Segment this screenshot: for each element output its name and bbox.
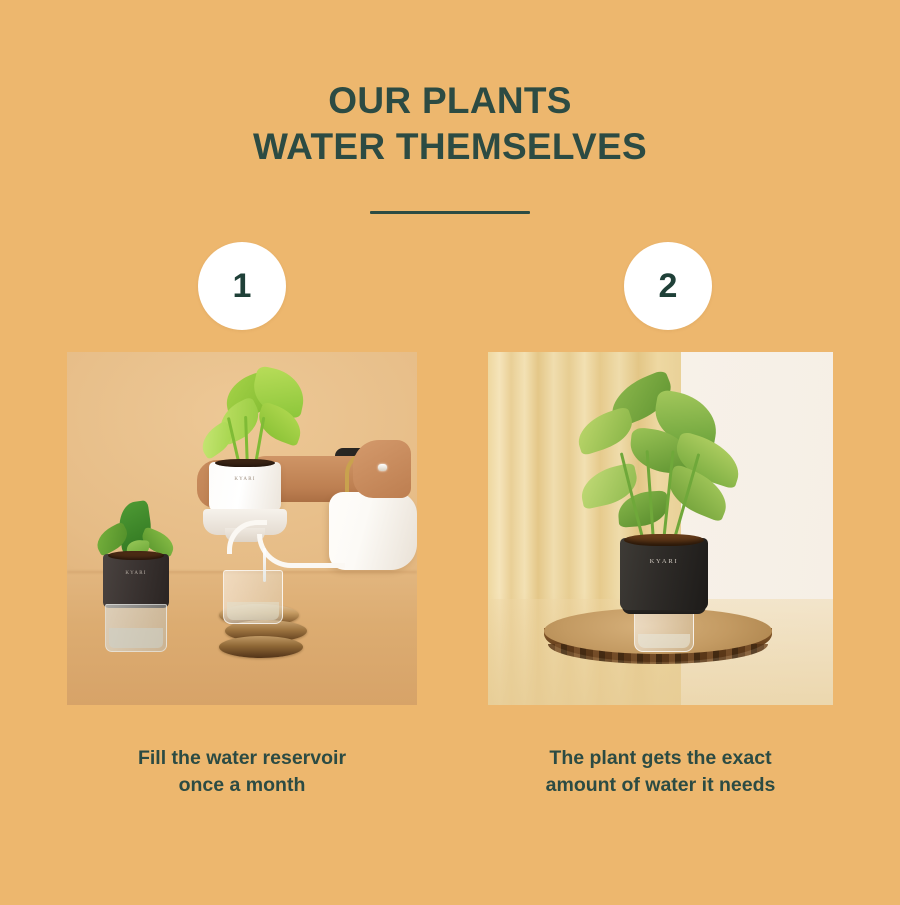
water-glass (223, 570, 283, 624)
pot-brand-label: KYARI (620, 558, 708, 565)
step-photo-1: KYARI KYARI (67, 352, 417, 705)
step-caption-2-line-1: The plant gets the exact (488, 745, 833, 772)
step-caption-2: The plant gets the exact amount of water… (488, 745, 833, 798)
step-caption-1-line-2: once a month (67, 772, 417, 799)
page-title: OUR PLANTS WATER THEMSELVES (0, 78, 900, 171)
water-reservoir (634, 610, 694, 652)
white-self-watering-pot: KYARI (209, 462, 281, 512)
water-reservoir (105, 604, 167, 652)
plant-stems (638, 448, 682, 542)
page-title-line-2: WATER THEMSELVES (0, 124, 900, 170)
wood-coaster (219, 636, 303, 658)
pot-brand-label: KYARI (209, 477, 281, 482)
step-photo-2: KYARI (488, 352, 833, 705)
step-number-badge-2: 2 (624, 242, 712, 330)
dark-self-watering-pot: KYARI (103, 554, 169, 608)
step-number-badge-1: 1 (198, 242, 286, 330)
title-divider (370, 211, 530, 214)
step-number-1: 1 (233, 267, 252, 306)
ring (378, 464, 387, 471)
step-caption-1-line-1: Fill the water reservoir (67, 745, 417, 772)
water-stream (263, 548, 266, 582)
page-title-line-1: OUR PLANTS (0, 78, 900, 124)
promo-page: OUR PLANTS WATER THEMSELVES 1 2 KYARI (0, 0, 900, 905)
step-caption-1: Fill the water reservoir once a month (67, 745, 417, 798)
pot-brand-label: KYARI (103, 571, 169, 576)
step-number-2: 2 (659, 267, 678, 306)
step-caption-2-line-2: amount of water it needs (488, 772, 833, 799)
dark-self-watering-pot: KYARI (620, 538, 708, 610)
